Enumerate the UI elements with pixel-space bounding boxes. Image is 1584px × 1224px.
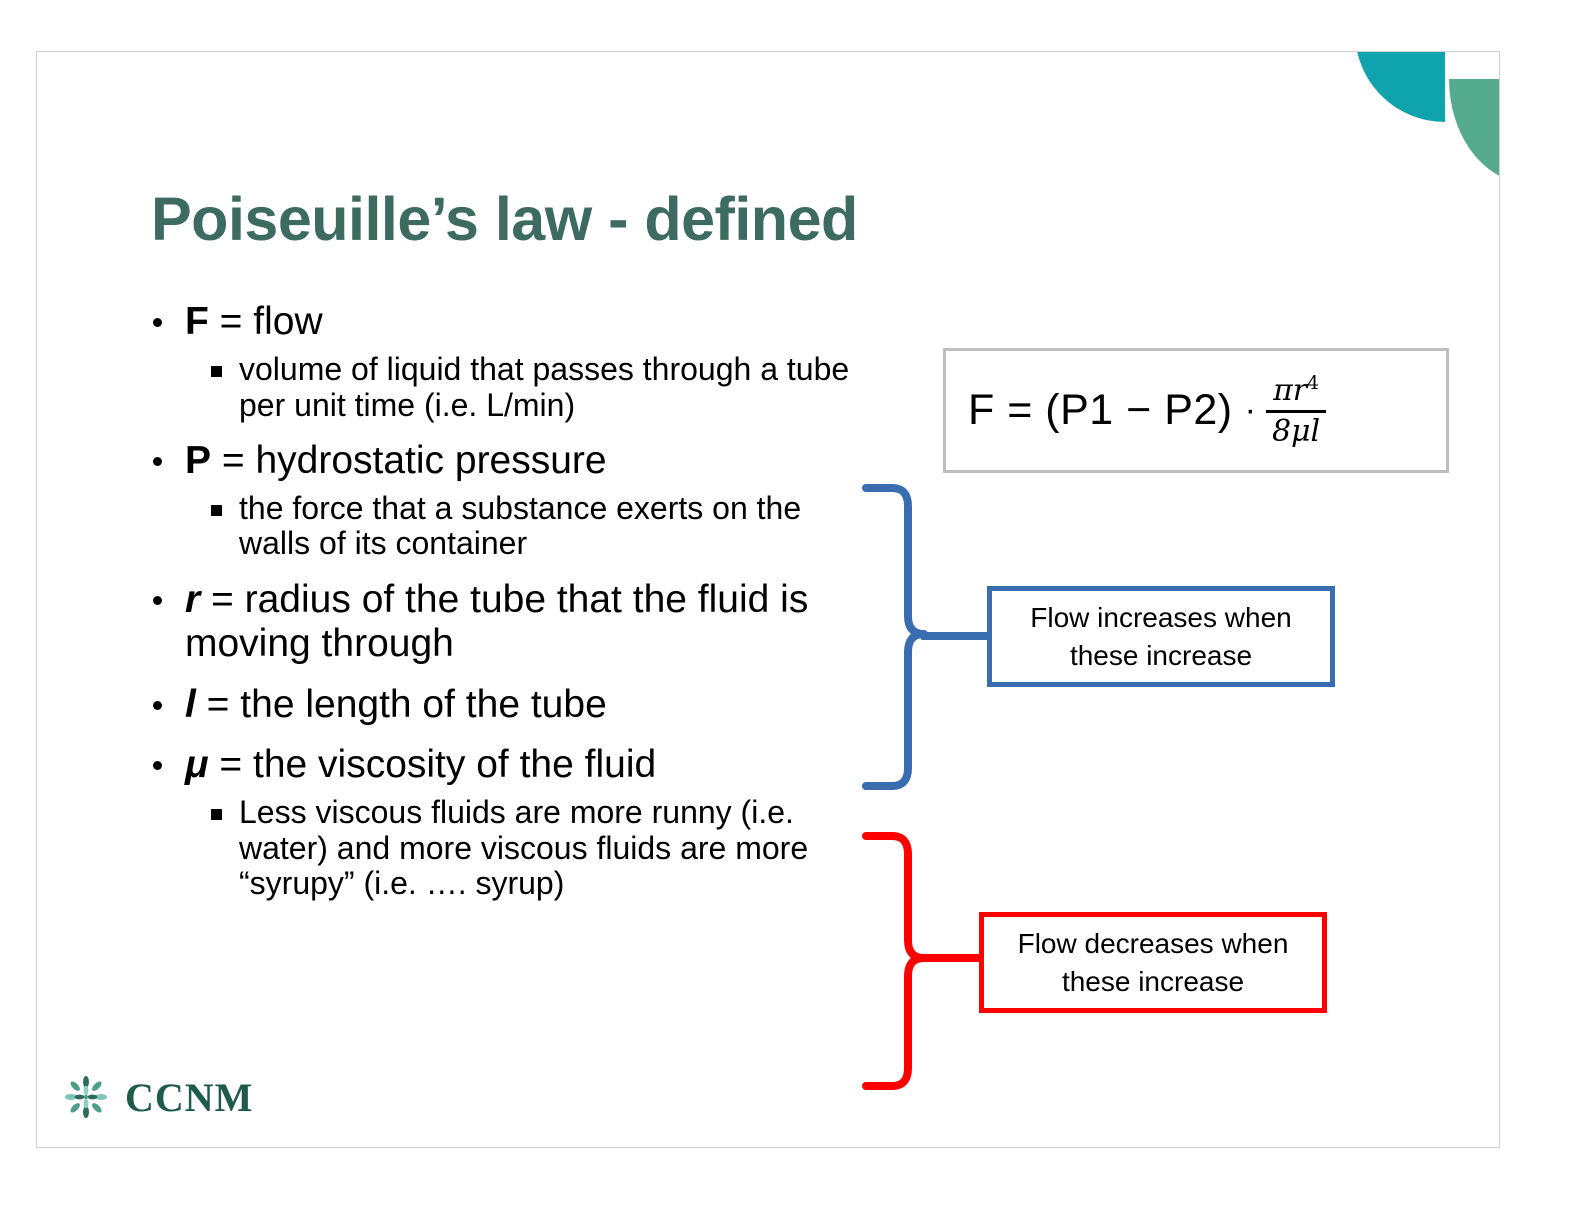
bullet-text-mu: = the viscosity of the fluid bbox=[209, 743, 657, 786]
callout-flow-decreases: Flow decreases when these increase bbox=[979, 912, 1327, 1013]
equation-fraction: πr4 8μl bbox=[1266, 375, 1326, 447]
formula-box: F = (P1 − P2) · πr4 8μl bbox=[943, 348, 1449, 473]
sub-bullet-f-0: volume of liquid that passes through a t… bbox=[147, 352, 857, 422]
ccnm-logo: CCNM bbox=[59, 1070, 253, 1124]
bullet-list: F = flow volume of liquid that passes th… bbox=[147, 300, 857, 901]
bullet-item-mu: μ = the viscosity of the fluid bbox=[147, 743, 857, 787]
fraction-exponent: 4 bbox=[1307, 373, 1319, 394]
callout-text-wrapper: Flow decreases when these increase bbox=[1018, 925, 1289, 1000]
sub-bullet-text: the force that a substance exerts on the… bbox=[239, 490, 801, 561]
callout-line2: these increase bbox=[1018, 963, 1289, 1001]
sub-bullet-square-icon bbox=[211, 366, 222, 377]
bullet-key-l: l bbox=[185, 683, 196, 726]
equation-left-side: F = (P1 − P2) bbox=[968, 386, 1233, 435]
petal-teal-decor-icon bbox=[1355, 51, 1445, 122]
equation-operator: · bbox=[1245, 391, 1256, 430]
bullet-dot-icon bbox=[153, 596, 162, 605]
bullet-dot-icon bbox=[153, 457, 162, 466]
sub-bullet-p-0: the force that a substance exerts on the… bbox=[147, 491, 857, 561]
bullet-key-f: F bbox=[185, 300, 209, 343]
poiseuille-equation: F = (P1 − P2) · πr4 8μl bbox=[968, 375, 1326, 447]
fraction-denominator: 8μl bbox=[1266, 413, 1326, 447]
callout-line1: Flow increases when bbox=[1030, 599, 1291, 637]
bullet-item-l: l = the length of the tube bbox=[147, 683, 857, 727]
bullet-key-p: P bbox=[185, 439, 211, 482]
fraction-numerator: πr4 bbox=[1267, 375, 1325, 410]
bullet-dot-icon bbox=[153, 701, 162, 710]
bullet-text-f: = flow bbox=[209, 300, 323, 343]
sub-bullet-mu-0: Less viscous fluids are more runny (i.e.… bbox=[147, 795, 857, 901]
page-title: Poiseuille’s law - defined bbox=[151, 184, 858, 254]
bullet-item-p: P = hydrostatic pressure bbox=[147, 439, 857, 483]
sub-bullet-text: Less viscous fluids are more runny (i.e.… bbox=[239, 794, 808, 900]
bullet-item-r: r = radius of the tube that the fluid is… bbox=[147, 578, 857, 667]
callout-text-wrapper: Flow increases when these increase bbox=[1030, 599, 1291, 674]
bullet-text-p: = hydrostatic pressure bbox=[211, 439, 607, 482]
bullet-key-r: r bbox=[185, 578, 200, 621]
callout-flow-increases: Flow increases when these increase bbox=[987, 586, 1335, 687]
bullet-dot-icon bbox=[153, 761, 162, 770]
sub-bullet-square-icon bbox=[211, 809, 222, 820]
bullet-item-f: F = flow bbox=[147, 300, 857, 344]
sub-bullet-square-icon bbox=[211, 505, 222, 516]
bullet-key-mu: μ bbox=[185, 743, 209, 786]
bullet-text-r: = radius of the tube that the fluid is m… bbox=[185, 578, 808, 665]
bullet-dot-icon bbox=[153, 318, 162, 327]
brace-blue-connector-icon bbox=[921, 630, 993, 642]
callout-line1: Flow decreases when bbox=[1018, 925, 1289, 963]
callout-line2: these increase bbox=[1030, 637, 1291, 675]
slide-canvas: Poiseuille’s law - defined F = flow volu… bbox=[36, 51, 1500, 1148]
sub-bullet-text: volume of liquid that passes through a t… bbox=[239, 351, 849, 422]
petal-green-decor-icon bbox=[1449, 79, 1500, 184]
bullet-text-l: = the length of the tube bbox=[196, 683, 607, 726]
logo-wordmark: CCNM bbox=[125, 1074, 253, 1121]
flower-mandala-icon bbox=[59, 1070, 113, 1124]
